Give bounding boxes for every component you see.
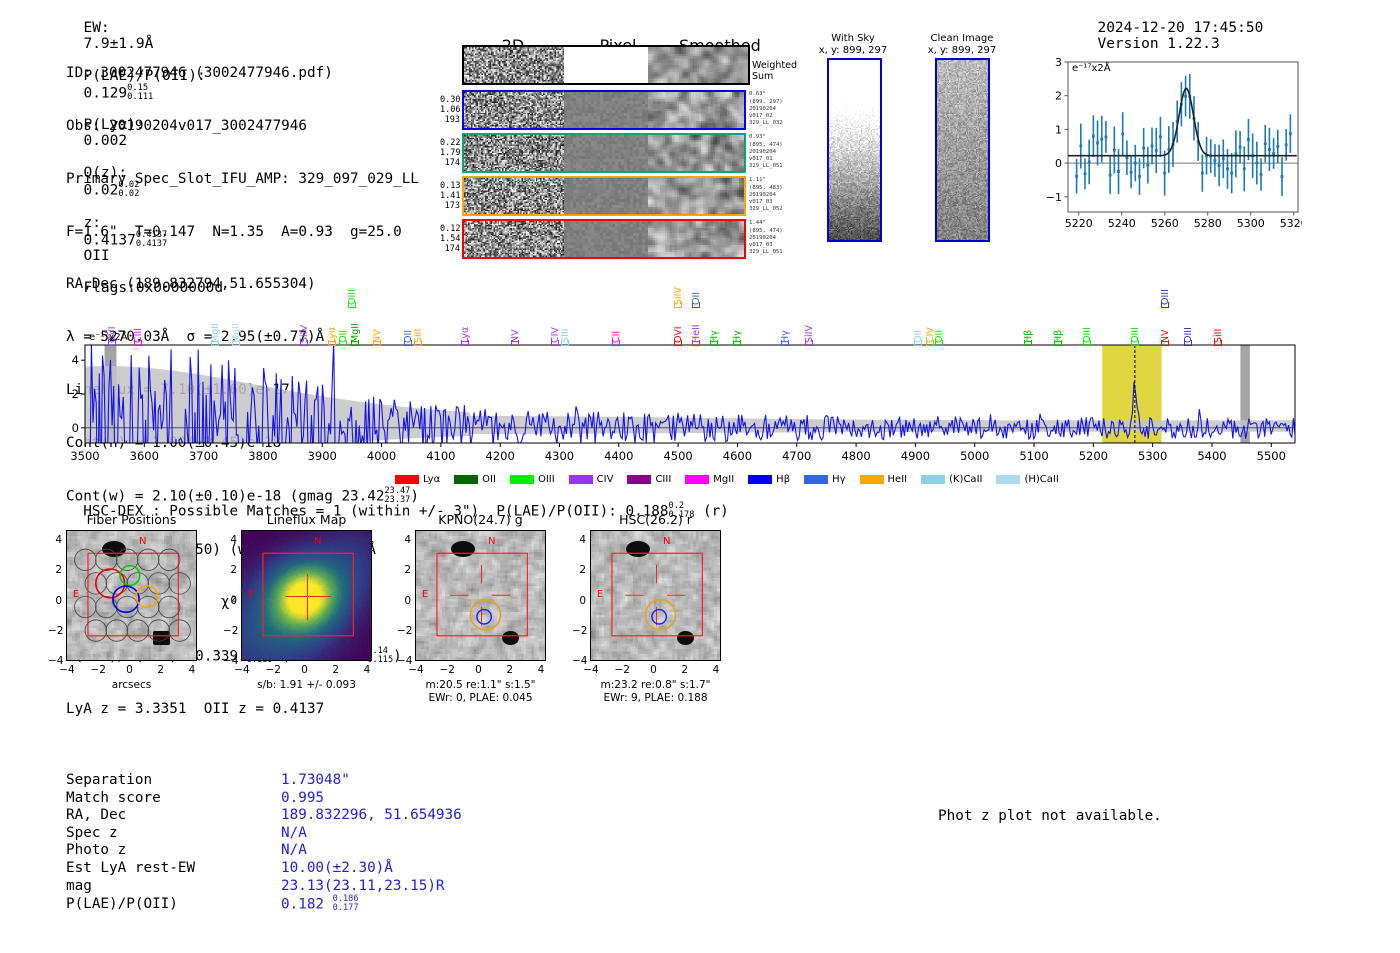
fiber-row: 0.131.411731.11"(895, 483)20190204v017_0… [440, 174, 783, 217]
fiber-row: 0.121.541741.44"(895, 474)20190204v017_0… [440, 217, 783, 260]
table-row-key: Spec z [66, 825, 281, 843]
legend-swatch [454, 475, 478, 484]
line-fit-svg: 5220524052605280530053203210−1 [1040, 52, 1302, 234]
legend-label: (K)CaII [949, 474, 982, 485]
panel-x-tick: −4 [58, 664, 76, 676]
fiber-meta: 329_LL_051 [749, 249, 783, 256]
table-row: mag23.13(23.11,23.15)R [66, 878, 462, 896]
emission-line-label: OII [913, 305, 924, 343]
table-row-key: Match score [66, 790, 281, 808]
svg-text:5320: 5320 [1280, 217, 1302, 230]
emission-line-label: OVI [673, 305, 684, 343]
panel-x-tick: 0 [296, 664, 314, 676]
panel-y-tick: 0 [572, 595, 586, 607]
emission-line-bracket [692, 340, 700, 346]
table-row-value: 0.995 [281, 790, 324, 806]
fiber-stat: 193 [440, 115, 460, 125]
fiber-row: 0.221.791740.93"(895, 474)20190204v017_0… [440, 131, 783, 174]
match-table: Separation1.73048"Match score0.995RA, De… [66, 772, 462, 914]
fiber-meta: 329_LL_032 [749, 120, 783, 127]
svg-text:0: 0 [1055, 157, 1062, 170]
emission-line-bracket [108, 340, 116, 346]
emission-line-bracket [674, 340, 682, 346]
fiber-meta: v017_01 [749, 156, 783, 163]
svg-text:3800: 3800 [248, 449, 277, 463]
fiber-stat: 0.30 [440, 95, 460, 105]
emission-line-label: SiIV [804, 305, 815, 343]
svg-text:5300: 5300 [1237, 217, 1265, 230]
emission-line-label: OII [691, 267, 702, 305]
emission-line-label: MgII [350, 305, 361, 343]
emission-line-bracket [733, 340, 741, 346]
panel-y-tick: 2 [397, 564, 411, 576]
emission-line-bracket [561, 340, 569, 346]
emission-line-bracket [710, 340, 718, 346]
fiber-meta: (895, 474) [749, 228, 783, 235]
emission-line-bracket [1184, 340, 1192, 346]
panel-y-tick: 0 [223, 595, 237, 607]
photoz-note: Phot z plot not available. [938, 808, 1162, 824]
fiber-row-left-stats: 0.131.41173 [440, 181, 460, 211]
table-row: Spec zN/A [66, 825, 462, 843]
emission-line-label: MgII [210, 305, 221, 343]
emission-line-bracket [805, 340, 813, 346]
legend-label: (H)CaII [1024, 474, 1058, 485]
emission-line-bracket [1024, 340, 1032, 346]
panel-overlay [67, 531, 197, 661]
emission-line-bracket [232, 340, 240, 346]
compass-east: E [73, 589, 79, 600]
linefit-units-label: e⁻¹⁷x2Å [1072, 63, 1111, 74]
panel-y-tick: 4 [48, 534, 62, 546]
legend-label: CIII [655, 474, 671, 485]
emission-line-label: SIII [560, 305, 571, 343]
panel-title: Fiber Positions [31, 512, 232, 527]
fiber-meta: 1.44" [749, 220, 783, 227]
legend-swatch [996, 475, 1020, 484]
emission-line-bracket [1054, 340, 1062, 346]
emission-line-label: MgII [231, 305, 242, 343]
panel-title: HSC(26.2) r [555, 512, 756, 527]
fiber-spectrum-image [462, 133, 746, 173]
emission-line-label: Lyα [460, 305, 471, 343]
fiber-stat: 0.12 [440, 224, 460, 234]
fiber-meta: 20190204 [749, 235, 783, 242]
table-row-key: mag [66, 878, 281, 896]
emission-line-label: OIII [1130, 305, 1141, 343]
image-panel: NE [415, 530, 546, 661]
panel-x-tick: 4 [183, 664, 201, 676]
svg-text:4700: 4700 [782, 449, 811, 463]
line-fit-plot: 5220524052605280530053203210−1e⁻¹⁷x2Å [1040, 52, 1302, 234]
fiber-meta: 329_LL_052 [749, 206, 783, 213]
svg-text:5260: 5260 [1151, 217, 1179, 230]
emission-line-label: CIII [133, 305, 144, 343]
legend-swatch [569, 475, 593, 484]
panel-y-tick: 4 [397, 534, 411, 546]
emission-line-bracket [300, 340, 308, 346]
svg-text:4500: 4500 [663, 449, 692, 463]
legend-label: MgII [713, 474, 734, 485]
table-row-value: 1.73048" [281, 772, 350, 788]
emission-line-label: NV [372, 305, 383, 343]
legend-swatch [804, 475, 828, 484]
fiber-spectrum-image [462, 90, 746, 130]
table-row-value: 23.13(23.11,23.15)R [281, 878, 445, 894]
emission-line-bracket [211, 340, 219, 346]
table-row-range: 0.1860.177 [333, 895, 359, 912]
legend-label: Lyα [423, 474, 440, 485]
fiber-stat: 1.41 [440, 191, 460, 201]
emission-line-label: OII [934, 305, 945, 343]
datetime: 2024-12-20 17:45:50 [1097, 20, 1263, 36]
cutout-panels: Fiber PositionsNE420−2−4−4−2024arcsecsLi… [40, 512, 830, 737]
emission-line-bracket [339, 340, 347, 346]
table-row-value: N/A [281, 825, 307, 841]
fiber-stat: 0.22 [440, 138, 460, 148]
emission-line-label: HeII [691, 305, 702, 343]
svg-text:4800: 4800 [841, 449, 870, 463]
panel-title: KPNO(24.7) g [380, 512, 581, 527]
panel-y-tick: −2 [397, 625, 411, 637]
panel-x-tick: −2 [613, 664, 631, 676]
compass-north: N [139, 536, 146, 547]
panel-y-tick: 2 [223, 564, 237, 576]
panel-x-tick: 2 [152, 664, 170, 676]
header-datetime-version: 2024-12-20 17:45:50 Version 1.22.3 [1080, 4, 1272, 52]
table-row-value: N/A [281, 842, 307, 858]
svg-text:5220: 5220 [1065, 217, 1093, 230]
emission-line-label: OII [338, 305, 349, 343]
panel-x-tick: −4 [233, 664, 251, 676]
panel-x-tick: 4 [707, 664, 725, 676]
svg-text:2: 2 [1055, 90, 1062, 103]
fiber-row-metadata: 1.44"(895, 474)20190204v017_03329_LL_051 [749, 220, 783, 256]
fiber-rows-container: 0.301.061930.63"(899, 297)20190204v017_0… [440, 88, 783, 260]
emission-line-bracket [935, 340, 943, 346]
svg-text:2: 2 [72, 387, 79, 401]
svg-text:4: 4 [72, 353, 79, 367]
svg-text:5280: 5280 [1194, 217, 1222, 230]
panel-x-tick: 0 [121, 664, 139, 676]
emission-line-bracket [404, 340, 412, 346]
info-id: ID: 3002477946 (3002477946.pdf) [66, 65, 419, 83]
table-row-key: Separation [66, 772, 281, 790]
legend-label: OIII [538, 474, 555, 485]
fiber-stat: 174 [440, 244, 460, 254]
svg-text:5400: 5400 [1197, 449, 1226, 463]
legend-swatch [921, 475, 945, 484]
emission-line-bracket [134, 340, 142, 346]
fiber-row-metadata: 0.93"(895, 474)20190204v017_01329_LL_051 [749, 134, 783, 170]
emission-line-label: NV [510, 305, 521, 343]
emission-line-label: OIII [1183, 305, 1194, 343]
fiber-spectrum-image [462, 176, 746, 216]
svg-text:5000: 5000 [960, 449, 989, 463]
emission-line-bracket [1131, 340, 1139, 346]
panel-x-tick: 2 [327, 664, 345, 676]
svg-text:3: 3 [1055, 56, 1062, 69]
fiber-stat: 1.06 [440, 105, 460, 115]
panel-overlay [416, 531, 546, 661]
emission-line-bracket [351, 340, 359, 346]
table-row: Match score0.995 [66, 790, 462, 808]
fiber-meta: 20190204 [749, 192, 783, 199]
svg-text:5240: 5240 [1108, 217, 1136, 230]
fiber-meta: (895, 474) [749, 142, 783, 149]
emission-line-bracket [1161, 340, 1169, 346]
emission-line-bracket [461, 340, 469, 346]
table-row-key: P(LAE)/P(OII) [66, 896, 281, 914]
panel-x-tick: 0 [470, 664, 488, 676]
emission-line-bracket [373, 340, 381, 346]
fiber-meta: v017_02 [749, 113, 783, 120]
emission-line-bracket [328, 340, 336, 346]
svg-text:5200: 5200 [1079, 449, 1108, 463]
panel-y-tick: −2 [572, 625, 586, 637]
emission-line-label: OVI [107, 305, 118, 343]
panel-y-tick: 2 [48, 564, 62, 576]
emission-line-label: SiIV [299, 305, 310, 343]
legend-swatch [510, 475, 534, 484]
table-row: P(LAE)/P(OII)0.182 0.1860.177 [66, 895, 462, 914]
fiber-row-left-stats: 0.301.06193 [440, 95, 460, 125]
panel-x-tick: −2 [438, 664, 456, 676]
info-obs: Obs: 20190204v017_3002477946 [66, 118, 419, 136]
table-row-value: 189.832296, 51.654936 [281, 807, 462, 823]
fiber-row-left-stats: 0.121.54174 [440, 224, 460, 254]
fiber-row-metadata: 1.11"(895, 483)20190204v017_03329_LL_052 [749, 177, 783, 213]
panel-caption-1: m:23.2 re:0.8" s:1.7" [545, 679, 766, 692]
emission-line-label: NV [1160, 305, 1171, 343]
panel-x-tick: −4 [407, 664, 425, 676]
weighted-sum-strip [462, 45, 750, 85]
legend-label: HeII [888, 474, 908, 485]
emission-line-bracket [914, 340, 922, 346]
svg-text:4900: 4900 [901, 449, 930, 463]
cutout-sub-clean-image: x, y: 899, 297 [912, 45, 1012, 56]
emission-line-bracket [511, 340, 519, 346]
emission-line-label: SiIV [673, 267, 684, 305]
table-row-value: 10.00(±2.30)Å [281, 860, 393, 876]
emission-line-bracket [781, 340, 789, 346]
emission-line-label: Hβ [1053, 305, 1064, 343]
version: Version 1.22.3 [1097, 36, 1219, 52]
svg-text:5500: 5500 [1257, 449, 1286, 463]
legend-label: CIV [597, 474, 614, 485]
emission-line-bracket [612, 340, 620, 346]
table-row-key: Photo z [66, 842, 281, 860]
compass-north: N [663, 536, 670, 547]
clean-image [935, 58, 990, 242]
emission-line-label: SiII [1213, 305, 1224, 343]
legend-label: Hγ [832, 474, 845, 485]
svg-text:3500: 3500 [70, 449, 99, 463]
fiber-stat: 173 [440, 201, 460, 211]
compass-east: E [422, 589, 428, 600]
fiber-stat: 174 [440, 158, 460, 168]
panel-x-tick: −2 [89, 664, 107, 676]
panel-x-tick: 4 [358, 664, 376, 676]
panel-x-tick: −4 [582, 664, 600, 676]
svg-text:−1: −1 [1046, 191, 1062, 204]
full-spectrum-plot: 3500360037003800390040004100420043004400… [63, 278, 1303, 473]
emission-line-label: SiII [413, 305, 424, 343]
svg-text:0: 0 [72, 421, 79, 435]
svg-text:4000: 4000 [367, 449, 396, 463]
panel-title: Lineflux Map [206, 512, 407, 527]
panel-x-tick: −2 [264, 664, 282, 676]
svg-text:3700: 3700 [189, 449, 218, 463]
fiber-meta: 329_LL_051 [749, 163, 783, 170]
legend-swatch [685, 475, 709, 484]
image-panel: NE [241, 530, 372, 661]
fiber-row-left-stats: 0.221.79174 [440, 138, 460, 168]
panel-y-tick: 4 [223, 534, 237, 546]
with-sky-image [827, 58, 882, 242]
svg-text:1: 1 [1055, 123, 1062, 136]
svg-text:4100: 4100 [426, 449, 455, 463]
legend-label: Hβ [776, 474, 790, 485]
table-row: Photo zN/A [66, 842, 462, 860]
fiber-stat: 0.13 [440, 181, 460, 191]
svg-text:5300: 5300 [1138, 449, 1167, 463]
fiber-meta: 0.63" [749, 91, 783, 98]
fiber-meta: (899, 297) [749, 99, 783, 106]
emission-line-label: Hγ [732, 305, 743, 343]
fiber-meta: 1.11" [749, 177, 783, 184]
legend-label: OII [482, 474, 496, 485]
emission-line-bracket [1083, 340, 1091, 346]
image-panel: NE [590, 530, 721, 661]
svg-text:4600: 4600 [723, 449, 752, 463]
compass-east: E [248, 589, 254, 600]
emission-line-bracket [414, 340, 422, 346]
emission-line-label: Hγ [709, 305, 720, 343]
fiber-row-metadata: 0.63"(899, 297)20190204v017_02329_LL_032 [749, 91, 783, 127]
panel-x-tick: 0 [645, 664, 663, 676]
panel-x-tick: 2 [676, 664, 694, 676]
fiber-spectrum-image [462, 219, 746, 259]
panel-y-tick: 0 [48, 595, 62, 607]
weighted-sum-label: WeightedSum [752, 60, 797, 82]
panel-y-tick: 0 [397, 595, 411, 607]
svg-text:5100: 5100 [1019, 449, 1048, 463]
cutout-title-with-sky: With Sky [808, 33, 898, 44]
legend-swatch [748, 475, 772, 484]
panel-caption-2: EWr: 9, PLAE: 0.188 [545, 692, 766, 705]
emission-line-label: CII [611, 305, 622, 343]
emission-line-label: Lyα [327, 305, 338, 343]
panel-x-tick: 2 [501, 664, 519, 676]
cutout-sub-with-sky: x, y: 899, 297 [808, 45, 898, 56]
info-seeing: F=1.6" T=0.147 N=1.35 A=0.93 g=25.0 [66, 224, 419, 242]
emission-line-bracket [1214, 340, 1222, 346]
cutout-title-clean-image: Clean Image [912, 33, 1012, 44]
table-row: RA, Dec189.832296, 51.654936 [66, 807, 462, 825]
fiber-stat: 1.54 [440, 234, 460, 244]
fiber-meta: 20190204 [749, 149, 783, 156]
svg-text:4400: 4400 [604, 449, 633, 463]
compass-north: N [314, 536, 321, 547]
svg-text:4200: 4200 [486, 449, 515, 463]
emission-line-label: Hγ [780, 305, 791, 343]
table-row-key: RA, Dec [66, 807, 281, 825]
image-panel: NE [66, 530, 197, 661]
panel-x-tick: 4 [532, 664, 550, 676]
emission-line-label: OIII [347, 267, 358, 305]
fiber-row: 0.301.061930.63"(899, 297)20190204v017_0… [440, 88, 783, 131]
table-row-key: Est LyA rest-EW [66, 860, 281, 878]
fiber-meta: v017_03 [749, 199, 783, 206]
fiber-meta: v017_03 [749, 242, 783, 249]
info-primary-spec: Primary Spec_Slot_IFU_AMP: 329_097_029_L… [66, 171, 419, 189]
svg-text:3600: 3600 [130, 449, 159, 463]
compass-east: E [597, 589, 603, 600]
table-row-value: 0.182 [281, 896, 324, 912]
legend-swatch [860, 475, 884, 484]
panel-overlay [591, 531, 721, 661]
legend-swatch [395, 475, 419, 484]
panel-y-tick: −2 [223, 625, 237, 637]
fiber-meta: 0.93" [749, 134, 783, 141]
fiber-stat: 1.79 [440, 148, 460, 158]
panel-overlay [242, 531, 372, 661]
emission-line-label: OIII [1082, 305, 1093, 343]
panel-y-tick: 4 [572, 534, 586, 546]
fiber-meta: 20190204 [749, 106, 783, 113]
panel-y-tick: −2 [48, 625, 62, 637]
panel-y-tick: 2 [572, 564, 586, 576]
emission-line-bracket [551, 340, 559, 346]
svg-text:4300: 4300 [545, 449, 574, 463]
emission-line-label: OIII [1160, 267, 1171, 305]
svg-text:3900: 3900 [308, 449, 337, 463]
fiber-meta: (895, 483) [749, 185, 783, 192]
emission-line-label: Hβ [1023, 305, 1034, 343]
compass-north: N [488, 536, 495, 547]
table-row: Est LyA rest-EW10.00(±2.30)Å [66, 860, 462, 878]
table-row: Separation1.73048" [66, 772, 462, 790]
legend-swatch [627, 475, 651, 484]
